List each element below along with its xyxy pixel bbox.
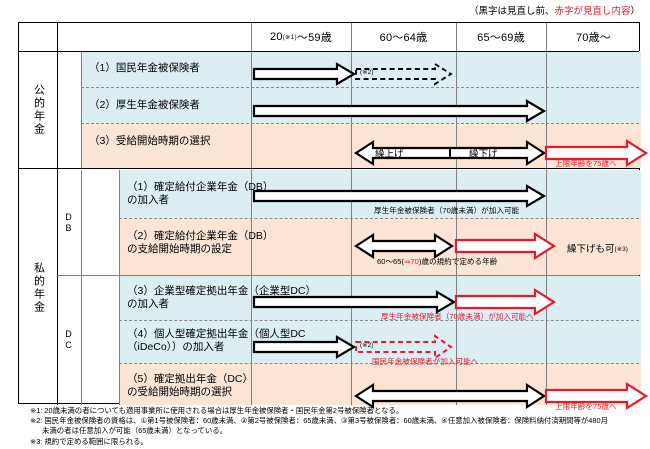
legend-note-red: 赤字が見直し内容: [554, 6, 630, 17]
arrow-public1-solid: [253, 63, 355, 85]
arrow-dc3-black: [253, 291, 455, 313]
caption-db2-pre: 60～65(: [377, 257, 404, 266]
footnotes: ※1: 20歳未満の者についても適用事業所に使用される場合は厚生年金被保険者・国…: [30, 406, 645, 447]
caption-dc3: 厚生年金被保険者（70歳未満）が加入可能へ: [381, 312, 534, 321]
row-label-public-3: （3）受給開始時期の選択: [89, 135, 210, 148]
rule-sub-col-public: [81, 51, 82, 168]
rule-db1-db2: [119, 218, 639, 219]
row-label-public-2: （2）厚生年金被保険者: [89, 99, 200, 112]
header-col-70plus-label: 70歳～: [576, 29, 611, 45]
footnote-3: ※3: 規約で定める範囲に限られる。: [30, 437, 645, 447]
caption-db1: 厚生年金被保険者（70歳未満）が加入可能: [374, 206, 519, 215]
rule-db-dc: [57, 275, 639, 276]
legend-note-suffix: ）: [630, 6, 640, 17]
rule-public1-2: [81, 87, 639, 88]
legend-note: （黒字は見直し前、赤字が見直し内容）: [469, 3, 640, 17]
rule-item-col: [119, 170, 120, 405]
footnote-2: ※2: 国民年金被保険者の資格は、①第1号被保険者：60歳未満、②第2号被保険者…: [30, 416, 645, 426]
header-col-20-59: 20(※1)～59歳: [251, 23, 351, 51]
caption-db2-red: ⇒70: [404, 257, 419, 266]
arrow-db2-red: [455, 233, 555, 259]
arrow-db1-solid: [253, 185, 545, 207]
group-label-db-b: B: [65, 223, 73, 234]
rule-public-private: [19, 168, 639, 169]
row-label-dc-5: （5）確定拠出年金（DC） の受給開始時期の選択: [127, 373, 253, 399]
caption-db2-post: )歳の規約で定める年齢: [419, 257, 497, 266]
rule-age-4: [546, 23, 547, 405]
header-col-70plus: 70歳～: [546, 23, 641, 51]
rule-header-bottom: [19, 51, 639, 52]
note-marker-dc4: (※2): [360, 341, 373, 349]
arrow-db2-black-double: [355, 233, 453, 259]
legend-note-prefix: （黒字は見直し前、: [469, 6, 555, 17]
row-label-db-1: （1）確定給付企業年金（DB） の加入者: [127, 181, 273, 207]
rule-dc3-dc4: [119, 320, 639, 321]
header-col-20-59-sup: (※1): [283, 33, 297, 41]
caption-dc4: 国民年金被保険者が加入可能へ: [372, 357, 478, 366]
note-db2-kurisage: 繰下げも可(※3): [567, 241, 628, 255]
rule-public2-3: [81, 123, 639, 124]
rule-sub-col-private: [81, 170, 82, 405]
header-col-20-59-label: 20: [270, 31, 283, 43]
group-label-db-a: D: [65, 212, 73, 223]
note-db2-kurisage-sup: (※3): [615, 246, 628, 253]
header-col-65-69-label: 65～69歳: [477, 29, 525, 45]
footnote-1: ※1: 20歳未満の者についても適用事業所に使用される場合は厚生年金被保険者・国…: [30, 406, 645, 416]
pension-reform-diagram: （黒字は見直し前、赤字が見直し内容）: [0, 0, 650, 449]
label-kuriage: 繰上げ: [375, 146, 404, 160]
header-col-65-69: 65～69歳: [456, 23, 546, 51]
header-col-20-59-tail: ～59歳: [297, 29, 332, 45]
header-col-60-64: 60～64歳: [351, 23, 456, 51]
note-db2-kurisage-text: 繰下げも可: [567, 244, 615, 255]
group-label-dc: DC: [57, 275, 81, 405]
group-label-dc-a: D: [65, 329, 73, 340]
row-label-public-1: （1）国民年金被保険者: [89, 62, 200, 75]
label-kurisage: 繰下げ: [469, 146, 498, 160]
group-label-db: DB: [57, 170, 81, 275]
diagram-table: 20(※1)～59歳 60～64歳 65～69歳 70歳～ 公的年金 私的年金 …: [18, 22, 640, 404]
group-label-public: 公的年金: [19, 51, 57, 168]
caption-db2: 60～65(⇒70)歳の規約で定める年齢: [377, 257, 497, 266]
header-col-60-64-label: 60～64歳: [380, 29, 428, 45]
note-marker-public1: (※2): [360, 68, 373, 76]
arrow-public2-solid: [253, 100, 545, 122]
group-label-dc-b: C: [65, 340, 73, 351]
arrow-dc4-black: [253, 336, 355, 358]
caption-public3-upper-age: 上限年齢を75歳へ: [555, 159, 617, 168]
footnote-2-cont: 未満の者は任意加入が可能（65歳未満）となっている。: [30, 426, 645, 436]
group-label-private: 私的年金: [19, 170, 57, 405]
row-label-db-2: （2）確定給付企業年金（DB） の支給開始時期の設定: [127, 230, 273, 256]
